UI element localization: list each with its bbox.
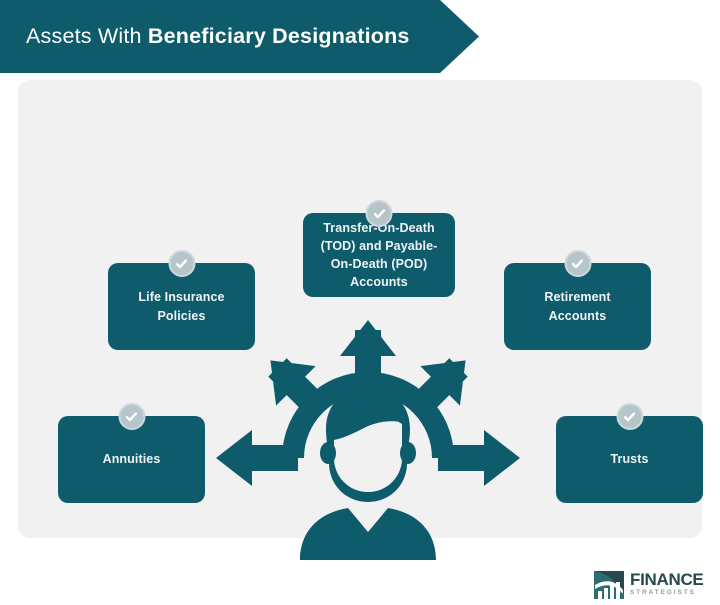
logo-subtitle: STRATEGISTS (630, 590, 703, 596)
page-title: Assets With Beneficiary Designations (0, 24, 410, 49)
node-tod-pod-accounts[interactable]: Transfer-On-Death (TOD) and Payable-On-D… (303, 213, 455, 297)
page-title-regular: Assets With (26, 24, 148, 48)
content-panel: Life Insurance Policies Transfer-On-Deat… (18, 80, 702, 538)
infographic-root: Assets With Beneficiary Designations Lif… (0, 0, 720, 554)
check-icon (616, 403, 643, 430)
logo-name: FINANCE (630, 571, 703, 588)
check-icon (564, 250, 591, 277)
header-banner: Assets With Beneficiary Designations (0, 0, 479, 73)
logo-text: FINANCE STRATEGISTS (630, 571, 703, 596)
node-annuities[interactable]: Annuities (58, 416, 205, 503)
person-with-radiating-arrows-icon (208, 320, 528, 560)
check-icon (168, 250, 195, 277)
check-icon (366, 200, 393, 227)
node-label: Annuities (93, 446, 171, 472)
node-trusts[interactable]: Trusts (556, 416, 703, 503)
brand-logo: FINANCE STRATEGISTS (593, 563, 713, 605)
page-title-bold: Beneficiary Designations (148, 24, 410, 48)
finance-strategists-bars-icon (593, 568, 625, 600)
check-icon (118, 403, 145, 430)
node-label: Trusts (600, 446, 658, 472)
